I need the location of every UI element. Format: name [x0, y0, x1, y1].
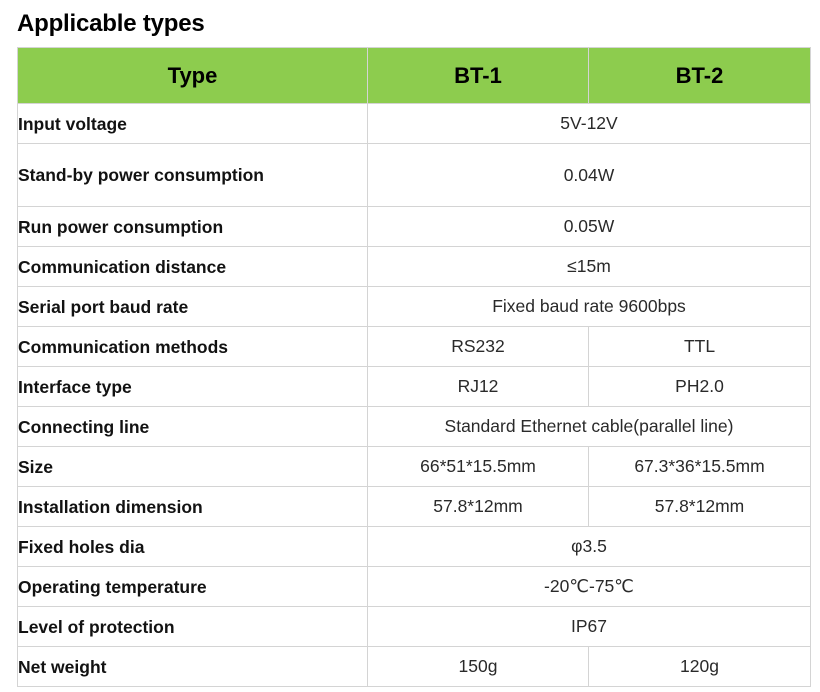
page-title: Applicable types — [17, 9, 205, 39]
row-label: Size — [18, 447, 368, 487]
table-row: Input voltage5V-12V — [18, 104, 811, 144]
table-row: Operating temperature-20℃-75℃ — [18, 567, 811, 607]
row-label: Communication distance — [18, 247, 368, 287]
row-value-bt2: 120g — [589, 647, 811, 687]
row-value-merged: ≤15m — [368, 247, 811, 287]
column-header-bt1: BT-1 — [368, 48, 589, 104]
table-row: Communication methodsRS232TTL — [18, 327, 811, 367]
table-row: Interface typeRJ12PH2.0 — [18, 367, 811, 407]
row-value-merged: IP67 — [368, 607, 811, 647]
table-header: Type BT-1 BT-2 — [18, 48, 811, 104]
applicable-types-table: Type BT-1 BT-2 Input voltage5V-12VStand-… — [17, 47, 811, 687]
row-value-merged: -20℃-75℃ — [368, 567, 811, 607]
row-label: Net weight — [18, 647, 368, 687]
row-label: Connecting line — [18, 407, 368, 447]
row-value-merged: Fixed baud rate 9600bps — [368, 287, 811, 327]
column-header-type: Type — [18, 48, 368, 104]
row-label: Stand-by power consumption — [18, 144, 368, 207]
row-label: Input voltage — [18, 104, 368, 144]
row-value-merged: Standard Ethernet cable(parallel line) — [368, 407, 811, 447]
row-value-merged: φ3.5 — [368, 527, 811, 567]
row-value-bt2: 67.3*36*15.5mm — [589, 447, 811, 487]
table-row: Stand-by power consumption0.04W — [18, 144, 811, 207]
row-value-bt1: 57.8*12mm — [368, 487, 589, 527]
row-value-bt1: RS232 — [368, 327, 589, 367]
row-value-merged: 5V-12V — [368, 104, 811, 144]
row-value-merged: 0.05W — [368, 207, 811, 247]
row-label: Interface type — [18, 367, 368, 407]
row-label: Run power consumption — [18, 207, 368, 247]
row-value-bt1: 66*51*15.5mm — [368, 447, 589, 487]
row-value-bt1: RJ12 — [368, 367, 589, 407]
row-value-bt1: 150g — [368, 647, 589, 687]
row-value-bt2: 57.8*12mm — [589, 487, 811, 527]
row-label: Fixed holes dia — [18, 527, 368, 567]
table-row: Run power consumption0.05W — [18, 207, 811, 247]
column-header-bt2: BT-2 — [589, 48, 811, 104]
row-value-bt2: TTL — [589, 327, 811, 367]
row-label: Serial port baud rate — [18, 287, 368, 327]
table-row: Size66*51*15.5mm67.3*36*15.5mm — [18, 447, 811, 487]
table-row: Net weight150g120g — [18, 647, 811, 687]
row-label: Installation dimension — [18, 487, 368, 527]
table-row: Fixed holes diaφ3.5 — [18, 527, 811, 567]
table-body: Input voltage5V-12VStand-by power consum… — [18, 104, 811, 687]
row-label: Level of protection — [18, 607, 368, 647]
table-row: Serial port baud rateFixed baud rate 960… — [18, 287, 811, 327]
table-row: Level of protectionIP67 — [18, 607, 811, 647]
row-label: Communication methods — [18, 327, 368, 367]
table-header-row: Type BT-1 BT-2 — [18, 48, 811, 104]
table-row: Installation dimension57.8*12mm57.8*12mm — [18, 487, 811, 527]
table-row: Connecting lineStandard Ethernet cable(p… — [18, 407, 811, 447]
table-row: Communication distance≤15m — [18, 247, 811, 287]
row-value-bt2: PH2.0 — [589, 367, 811, 407]
row-label: Operating temperature — [18, 567, 368, 607]
row-value-merged: 0.04W — [368, 144, 811, 207]
